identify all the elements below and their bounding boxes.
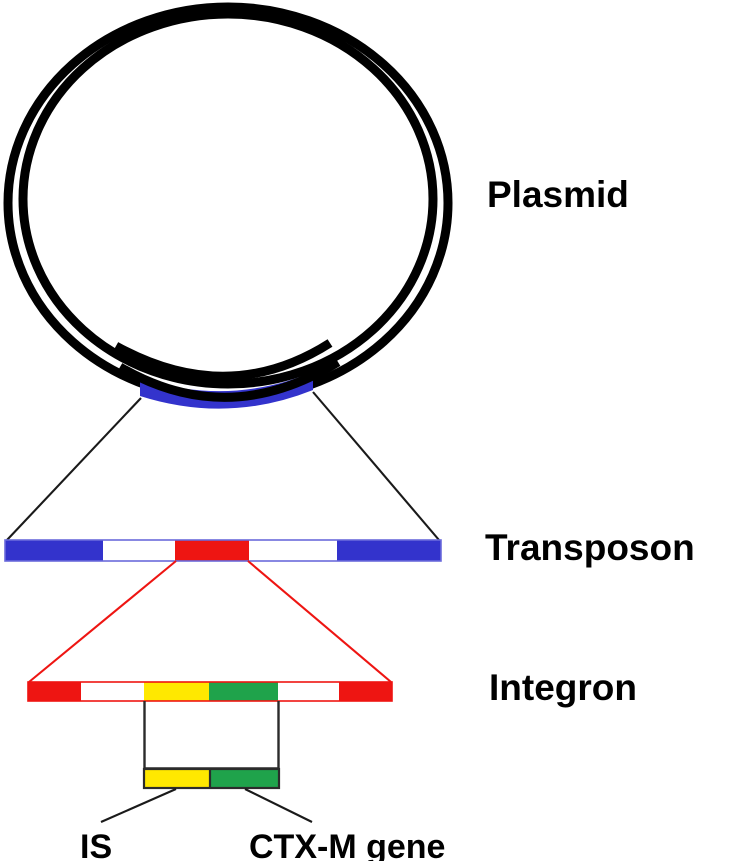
- integron-segment-ctxm-gene: [209, 682, 278, 701]
- integron-segment-left-spacer: [81, 682, 144, 701]
- leader-line-plasmid-left: [7, 398, 141, 540]
- leader-lines-transposon-to-integron: [29, 561, 391, 682]
- transposon-segment-right-spacer: [249, 540, 337, 561]
- gene-bar-segment-ctxm-gene: [210, 769, 279, 788]
- transposon-bar: [5, 540, 441, 561]
- plasmid-inner-ring: [23, 14, 433, 384]
- label-transposon: Transposon: [485, 527, 695, 568]
- leader-line-integron-left: [29, 561, 176, 682]
- label-ctxm-gene: CTX-M gene: [249, 828, 445, 861]
- leader-lines-gene-bar-to-labels: [101, 789, 312, 822]
- transposon-segment-left-flank: [5, 540, 103, 561]
- integron-bar: [28, 682, 392, 701]
- leader-line-ctxm-label: [245, 789, 312, 822]
- label-integron: Integron: [489, 667, 637, 708]
- integron-segment-is-element: [144, 682, 209, 701]
- leader-line-is-label: [101, 789, 176, 822]
- plasmid-circle-group: [8, 7, 448, 409]
- label-is-element: IS: [80, 828, 112, 861]
- transposon-segment-right-flank: [337, 540, 441, 561]
- diagram-canvas: Plasmid Transposon Integron IS CTX-M gen…: [0, 0, 735, 861]
- nested-genetic-elements-figure: Plasmid Transposon Integron IS CTX-M gen…: [0, 0, 735, 861]
- connector-box-integron-to-gene-bar: [144, 701, 279, 769]
- transposon-segment-left-spacer: [103, 540, 175, 561]
- plasmid-outer-ring: [8, 7, 448, 399]
- transposon-segment-integron-region: [175, 540, 249, 561]
- integron-segment-right-flank: [339, 682, 392, 701]
- integron-segment-left-flank: [28, 682, 81, 701]
- leader-line-plasmid-right: [313, 392, 439, 540]
- label-plasmid: Plasmid: [487, 174, 629, 215]
- gene-bar-segment-is-element: [144, 769, 210, 788]
- integron-segment-right-spacer: [278, 682, 339, 701]
- leader-lines-plasmid-to-transposon: [7, 392, 439, 540]
- is-ctxm-bar: [144, 769, 279, 788]
- leader-line-integron-right: [248, 561, 391, 682]
